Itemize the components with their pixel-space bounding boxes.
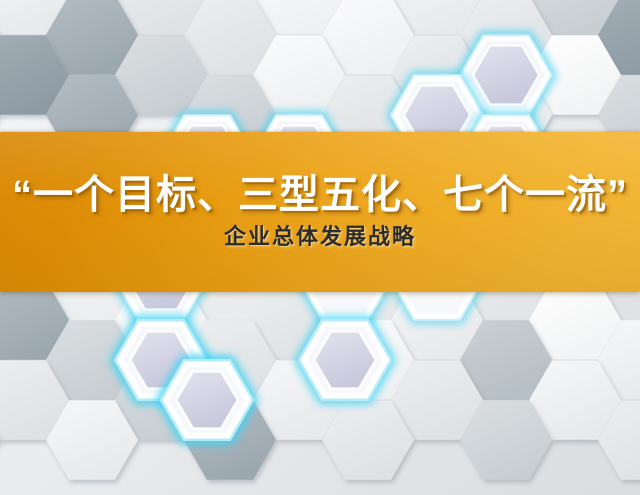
glow-hexagon bbox=[161, 360, 253, 440]
glow-hexagon bbox=[299, 320, 391, 400]
slide-canvas: “一个目标、三型五化、七个一流” 企业总体发展战略 bbox=[0, 0, 640, 495]
title-banner: “一个目标、三型五化、七个一流” 企业总体发展战略 bbox=[0, 132, 640, 292]
page-subtitle: 企业总体发展战略 bbox=[224, 224, 416, 250]
page-title: “一个目标、三型五化、七个一流” bbox=[12, 173, 628, 218]
